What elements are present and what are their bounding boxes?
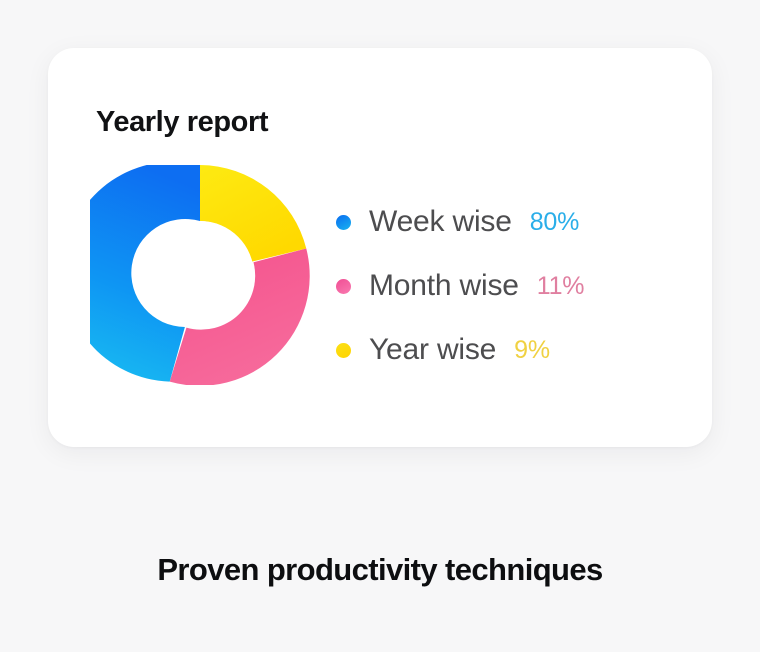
legend-dot-pink-icon [336, 279, 351, 294]
legend-value-month-wise: 11% [537, 272, 585, 301]
legend-item-week-wise[interactable]: Week wise 80% [336, 190, 676, 254]
yearly-report-card: Yearly report [48, 48, 712, 447]
legend-label-week-wise: Week wise [369, 205, 512, 239]
donut-hole [146, 221, 254, 329]
chart-legend: Week wise 80% Month wise 11% Year wise 9… [336, 190, 676, 382]
legend-label-month-wise: Month wise [369, 269, 519, 303]
legend-value-week-wise: 80% [530, 208, 579, 237]
legend-item-month-wise[interactable]: Month wise 11% [336, 254, 676, 318]
legend-item-year-wise[interactable]: Year wise 9% [336, 318, 676, 382]
legend-label-year-wise: Year wise [369, 333, 496, 367]
legend-value-year-wise: 9% [514, 336, 550, 365]
legend-dot-blue-icon [336, 215, 351, 230]
donut-chart [90, 165, 310, 385]
legend-dot-yellow-icon [336, 343, 351, 358]
donut-chart-svg [90, 165, 310, 385]
footer-heading: Proven productivity techniques [0, 552, 760, 588]
page-title: Yearly report [96, 106, 268, 139]
